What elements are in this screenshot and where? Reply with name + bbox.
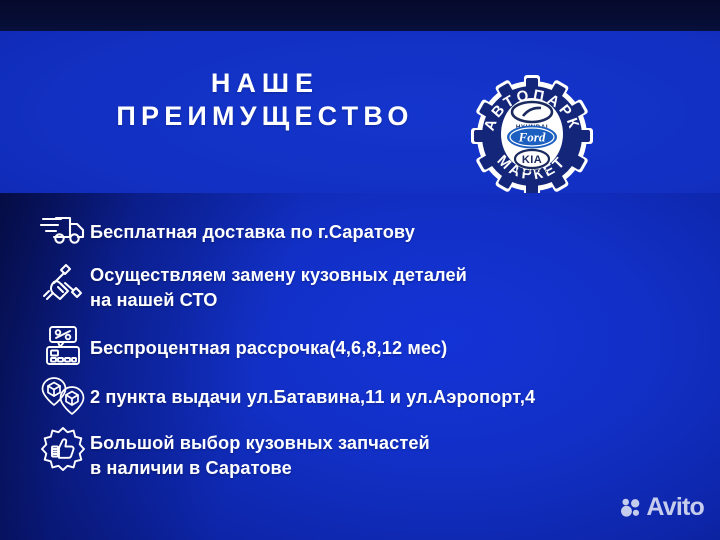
avito-wordmark: Avito bbox=[646, 495, 704, 520]
ford-logo: Ford bbox=[507, 126, 557, 149]
feature-item: Беспроцентная рассрочка(4,6,8,12 мес) bbox=[36, 325, 447, 367]
feature-item: Большой выбор кузовных запчастей в налич… bbox=[36, 427, 430, 481]
avito-logo-icon bbox=[620, 498, 642, 518]
feature-item: Бесплатная доставка по г.Саратову bbox=[36, 213, 415, 247]
banner-body: Бесплатная доставка по г.Саратову bbox=[0, 193, 720, 540]
delivery-truck-icon bbox=[36, 213, 90, 247]
avtopark-market-logo: АВТОПАРК МАРКЕТ HYUNDAI Ford bbox=[471, 75, 593, 193]
feature-item: Осуществляем замену кузовных деталей на … bbox=[36, 261, 467, 313]
avito-watermark: Avito bbox=[620, 495, 704, 520]
svg-text:Ford: Ford bbox=[518, 129, 546, 144]
promo-banner: НАШЕПРЕИМУЩЕСТВО bbox=[0, 0, 720, 540]
title-line-1: НАШЕ bbox=[211, 68, 319, 98]
zero-percent-card-icon bbox=[36, 325, 90, 367]
feature-label: 2 пункта выдачи ул.Батавина,11 и ул.Аэро… bbox=[90, 377, 535, 410]
svg-text:KIA MOTORS: KIA MOTORS bbox=[517, 169, 548, 174]
feature-label: Большой выбор кузовных запчастей в налич… bbox=[90, 427, 430, 481]
hand-wrench-icon bbox=[36, 261, 90, 303]
banner-header: НАШЕПРЕИМУЩЕСТВО bbox=[0, 31, 720, 193]
title-line-2: ПРЕИМУЩЕСТВО bbox=[0, 100, 530, 133]
feature-item: 2 пункта выдачи ул.Батавина,11 и ул.Аэро… bbox=[36, 377, 535, 415]
pickup-points-icon bbox=[36, 377, 90, 415]
thumbs-up-badge-icon bbox=[36, 427, 90, 473]
feature-label: Осуществляем замену кузовных деталей на … bbox=[90, 261, 467, 313]
top-dark-strip bbox=[0, 0, 720, 31]
feature-label: Беспроцентная рассрочка(4,6,8,12 мес) bbox=[90, 325, 447, 361]
feature-label: Бесплатная доставка по г.Саратову bbox=[90, 213, 415, 245]
svg-text:KIA: KIA bbox=[522, 154, 542, 166]
page-title: НАШЕПРЕИМУЩЕСТВО bbox=[0, 67, 530, 133]
